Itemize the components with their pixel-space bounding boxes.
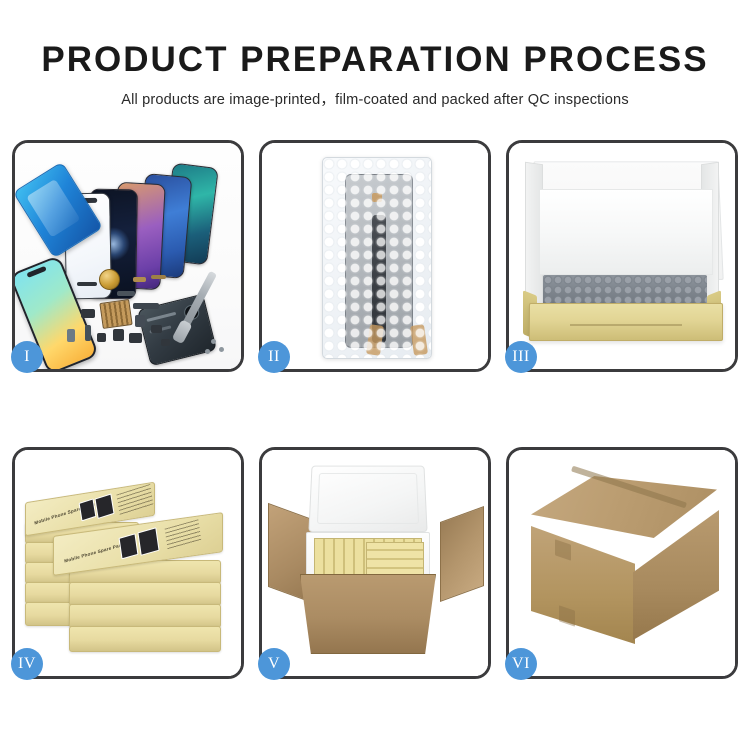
- step-image-1: [15, 143, 241, 369]
- box-label-lines-icon: [116, 484, 153, 516]
- wrapped-part-icon: [345, 174, 413, 348]
- stacked-box: [69, 582, 221, 606]
- housing-strip-icon: [146, 312, 176, 322]
- flex-cable-icon: [133, 303, 159, 309]
- step-badge-2: II: [258, 341, 290, 373]
- spare-part-icon: [67, 329, 75, 342]
- carton-front-icon: [531, 526, 635, 644]
- box-label-text: Mobile Phone Spare Parts: [64, 542, 126, 564]
- step-badge-4: IV: [11, 648, 43, 680]
- yellow-box-front-icon: [529, 303, 723, 341]
- page-subtitle: All products are image-printed，film-coat…: [0, 88, 750, 109]
- step-panel-1: I: [12, 140, 244, 372]
- screw-icon: [211, 339, 216, 344]
- spare-part-icon: [81, 309, 95, 318]
- step-panel-5: V: [259, 447, 491, 679]
- gold-coil-icon: [99, 269, 120, 290]
- chip-grid-icon: [99, 299, 132, 329]
- box-label-screen-icon: [79, 498, 97, 521]
- spare-part-icon: [77, 282, 97, 286]
- step-image-3: [509, 143, 735, 369]
- spare-part-icon: [133, 277, 146, 282]
- spare-part-icon: [97, 333, 106, 342]
- tape-piece-icon: [372, 193, 382, 202]
- stacked-boxes-illustration: Mobile Phone Spare Parts Mobile Phone Sp…: [15, 450, 241, 676]
- foam-sheet-icon: [539, 189, 713, 275]
- box-label-screen-icon: [137, 527, 159, 556]
- flex-cable-icon: [117, 291, 135, 296]
- spare-part-icon: [113, 329, 124, 341]
- bubble-wrap-package-icon: [322, 157, 432, 359]
- carton-flap-right-icon: [440, 506, 484, 602]
- step-image-2: [262, 143, 488, 369]
- stacked-box: [69, 604, 221, 628]
- screw-icon: [219, 347, 224, 352]
- step-panel-3: III: [506, 140, 738, 372]
- spare-part-icon: [129, 333, 142, 343]
- page-header: PRODUCT PREPARATION PROCESS All products…: [0, 0, 750, 109]
- box-label-screen-icon: [94, 493, 114, 519]
- tape-piece-icon: [366, 324, 384, 356]
- step-image-4: Mobile Phone Spare Parts Mobile Phone Sp…: [15, 450, 241, 676]
- step-image-6: [509, 450, 735, 676]
- spare-part-icon: [85, 325, 91, 341]
- foam-lid-icon: [308, 466, 427, 533]
- spare-part-icon: [151, 325, 162, 333]
- step-badge-3: III: [505, 341, 537, 373]
- step-image-5: [262, 450, 488, 676]
- screw-icon: [205, 349, 210, 354]
- tape-piece-icon: [410, 324, 428, 356]
- box-label-screen-icon: [119, 533, 139, 559]
- step-badge-5: V: [258, 648, 290, 680]
- step-panel-2: II: [259, 140, 491, 372]
- carton-body-icon: [300, 574, 436, 654]
- bubble-wrap-illustration: [262, 143, 488, 369]
- step-badge-6: VI: [505, 648, 537, 680]
- spare-part-icon: [151, 275, 166, 279]
- stacked-box: [69, 626, 221, 652]
- spare-part-icon: [135, 315, 145, 327]
- phone-parts-illustration: [15, 143, 241, 369]
- step-panel-4: Mobile Phone Spare Parts Mobile Phone Sp…: [12, 447, 244, 679]
- box-stack: Mobile Phone Spare Parts Mobile Phone Sp…: [23, 468, 239, 664]
- sealed-carton-illustration: [509, 450, 735, 676]
- page-title: PRODUCT PREPARATION PROCESS: [0, 42, 750, 79]
- spare-part-icon: [161, 339, 170, 346]
- foam-box-illustration: [509, 143, 735, 369]
- box-label-lines-icon: [165, 519, 202, 550]
- process-steps-grid: I II: [12, 140, 738, 679]
- step-badge-1: I: [11, 341, 43, 373]
- carton-packing-illustration: [262, 450, 488, 676]
- step-panel-6: VI: [506, 447, 738, 679]
